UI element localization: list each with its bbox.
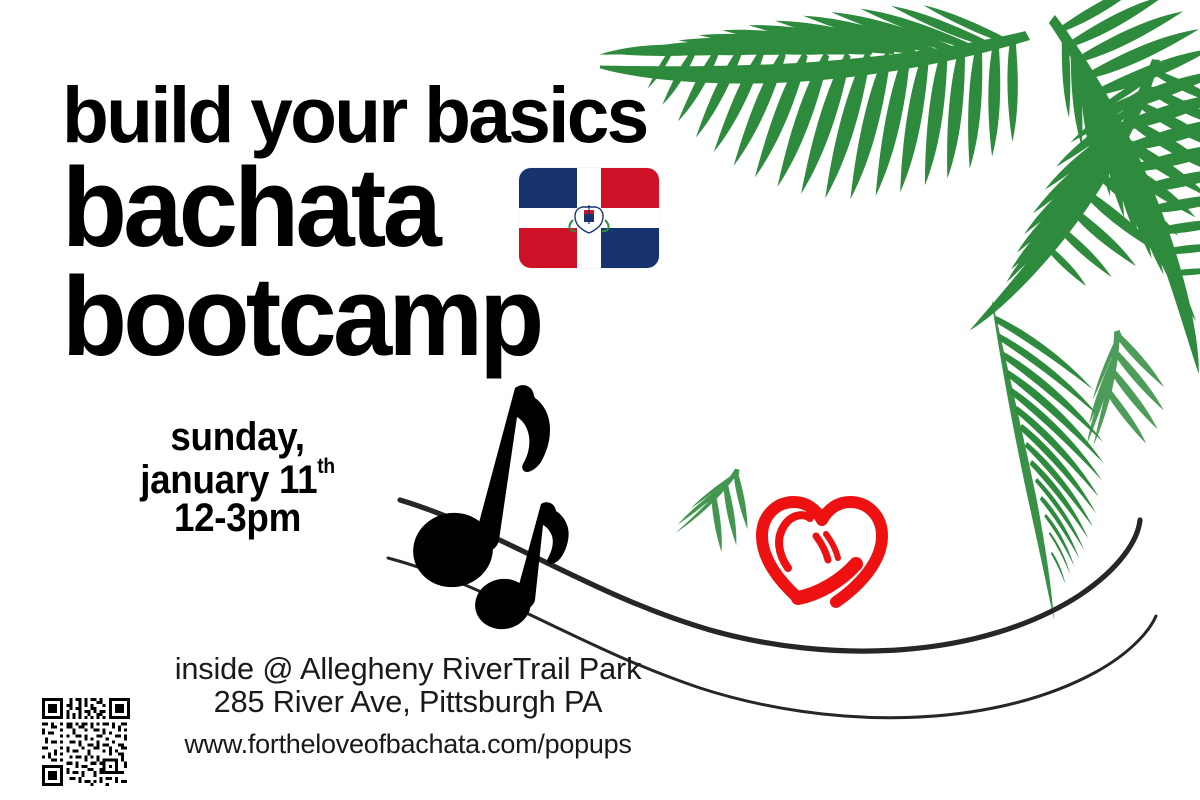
venue-name: inside @ Allegheny RiverTrail Park (111, 652, 705, 685)
event-flyer: build your basics bachata bootcamp sunda… (0, 0, 1200, 800)
headline-line-1: build your basics (62, 78, 741, 151)
dominican-republic-flag-icon (519, 168, 659, 268)
date-ordinal-suffix: th (317, 455, 334, 478)
swoosh-curve-decoration (380, 380, 1200, 780)
heart-dancer-logo-icon (752, 482, 892, 617)
date-day: january 11 (140, 458, 317, 502)
venue-block: inside @ Allegheny RiverTrail Park 285 R… (108, 652, 708, 718)
event-date-block: sunday, january 11th 12-3pm (95, 418, 380, 538)
date-line-time: 12-3pm (106, 499, 368, 538)
date-line-date: january 11th (106, 457, 368, 500)
website-url[interactable]: www.fortheloveofbachata.com/popups (108, 729, 708, 760)
music-note-icon (395, 372, 625, 632)
date-line-weekday: sunday, (106, 418, 368, 457)
venue-address: 285 River Ave, Pittsburgh PA (111, 685, 705, 718)
headline-line-3: bootcamp (62, 264, 727, 370)
qr-code-icon[interactable] (42, 698, 130, 786)
